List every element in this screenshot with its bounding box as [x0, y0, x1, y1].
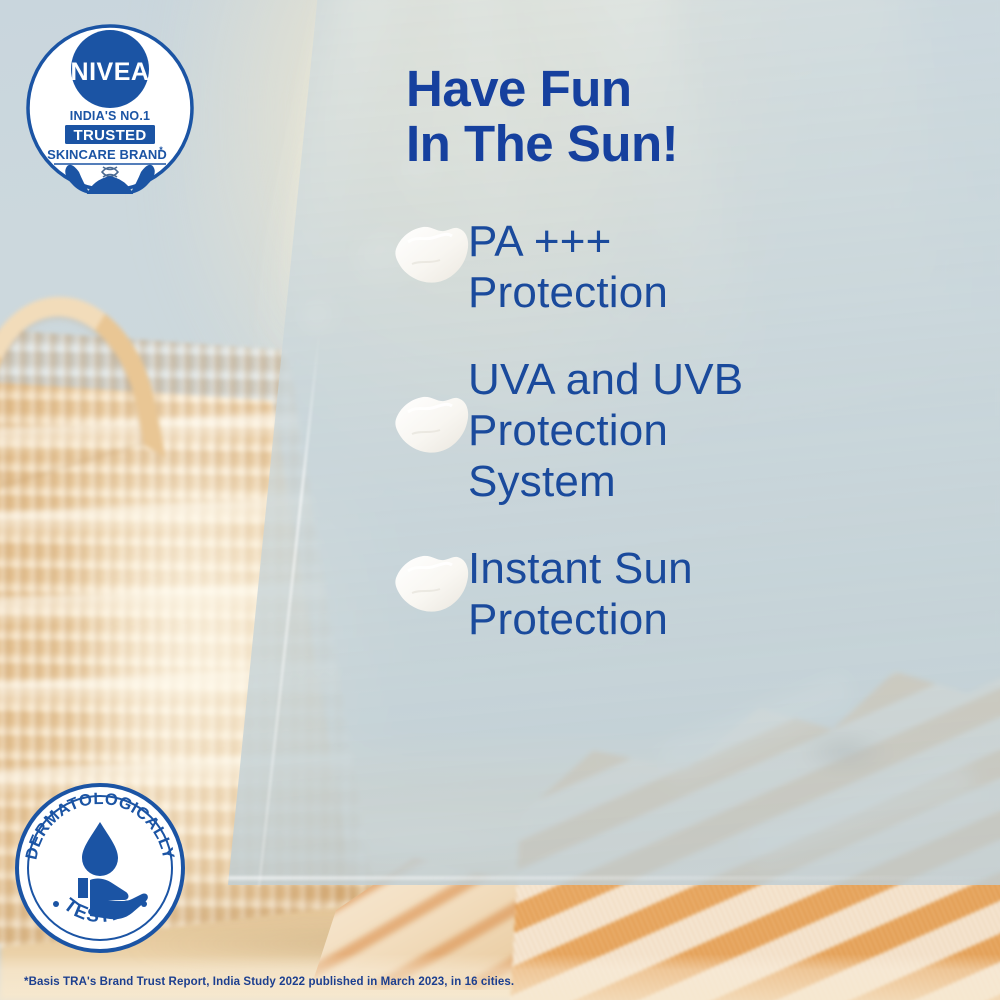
cream-swatch-icon	[394, 549, 472, 615]
panel-bottom-edge	[228, 876, 1000, 880]
benefit-item-instant-sun: Instant Sun Protection	[392, 541, 952, 645]
page-title: Have Fun In The Sun!	[406, 62, 926, 171]
headline-line-2: In The Sun!	[406, 117, 926, 172]
benefit-list: PA +++ Protection	[392, 214, 952, 645]
benefit-line: System	[468, 456, 743, 507]
derma-dot	[53, 901, 59, 907]
benefit-label: UVA and UVB Protection System	[468, 352, 743, 507]
nivea-wordmark: NIVEA	[71, 58, 150, 86]
benefit-line: Protection	[468, 267, 668, 318]
benefit-line: Protection	[468, 594, 693, 645]
promo-graphic: NIVEA INDIA'S NO.1 TRUSTED SKINCARE BRAN…	[0, 0, 1000, 1000]
cream-swatch-icon	[394, 390, 472, 456]
benefit-line: Protection	[468, 405, 743, 456]
benefit-label: Instant Sun Protection	[468, 541, 693, 645]
benefit-line: UVA and UVB	[468, 354, 743, 405]
benefit-line: Instant Sun	[468, 543, 693, 594]
footnote-text: *Basis TRA's Brand Trust Report, India S…	[24, 976, 514, 988]
dermatologically-tested-badge: DERMATOLOGICALLY TESTED	[14, 782, 186, 954]
nivea-trust-badge: NIVEA INDIA'S NO.1 TRUSTED SKINCARE BRAN…	[24, 22, 196, 194]
cream-swatch-icon	[394, 220, 472, 286]
headline-line-1: Have Fun	[406, 62, 926, 117]
benefit-line: PA +++	[468, 216, 668, 267]
trust-line-1: INDIA'S NO.1	[70, 109, 150, 123]
trust-asterisk: *	[159, 145, 163, 155]
benefit-item-pa-protection: PA +++ Protection	[392, 214, 952, 318]
trust-line-2: TRUSTED	[74, 127, 147, 144]
benefit-item-uva-uvb: UVA and UVB Protection System	[392, 352, 952, 507]
trust-line-3: SKINCARE BRAND	[47, 147, 167, 162]
benefit-label: PA +++ Protection	[468, 214, 668, 318]
